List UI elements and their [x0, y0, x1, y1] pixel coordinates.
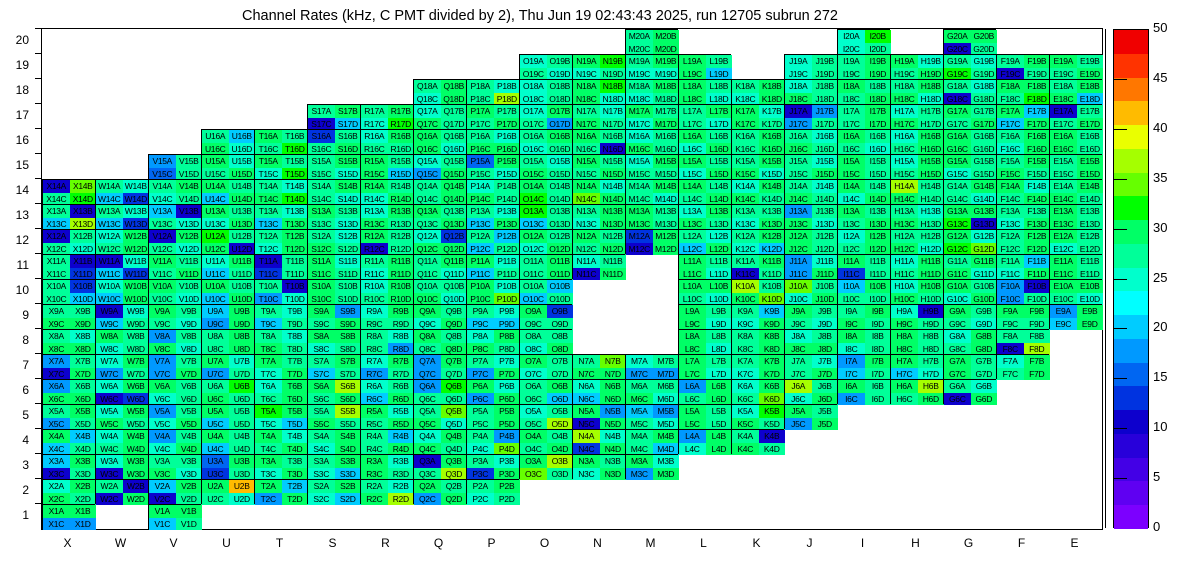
heatmap-subcell: W11A: [96, 255, 123, 268]
heatmap-subcell: Q15A: [414, 155, 441, 168]
heatmap-cell: G8AG8BG8CG8D: [943, 329, 996, 354]
heatmap-cell: K14AK14BK14CK14D: [731, 179, 784, 204]
heatmap-subcell: J10B: [812, 280, 839, 293]
x-axis-tick-label: I: [836, 536, 889, 550]
heatmap-subcell: T12B: [282, 230, 309, 243]
heatmap-subcell: V7B: [176, 355, 203, 368]
heatmap-cell: R8AR8BR8CR8D: [360, 329, 413, 354]
heatmap-subcell: K5B: [759, 405, 786, 418]
heatmap-subcell: N4A: [573, 430, 600, 443]
heatmap-subcell: R2B: [388, 480, 415, 493]
heatmap-cell: I12AI12BI12CI12D: [837, 229, 890, 254]
heatmap-subcell: R3A: [361, 455, 388, 468]
heatmap-subcell: U13B: [229, 205, 256, 218]
heatmap-cell: L4AL4BL4CL4D: [678, 429, 731, 454]
heatmap-cell: Q17AQ17BQ17CQ17D: [413, 104, 466, 129]
heatmap-cell: X12AX12BX12CX12D: [42, 229, 95, 254]
heatmap-cell: X10AX10BX10CX10D: [42, 279, 95, 304]
heatmap-subcell: G16B: [971, 130, 998, 143]
heatmap-subcell: J13A: [785, 205, 812, 218]
heatmap-subcell: P18A: [467, 80, 494, 93]
heatmap-subcell: L8A: [679, 330, 706, 343]
y-axis-tick-mark: [35, 303, 41, 304]
heatmap-subcell: R14A: [361, 180, 388, 193]
heatmap-cell: K7AK7BK7CK7D: [731, 354, 784, 379]
heatmap-subcell: M6B: [653, 380, 680, 393]
heatmap-subcell: M12C: [626, 243, 653, 256]
heatmap-cell: K11AK11BK11CK11D: [731, 254, 784, 279]
heatmap-subcell: G17B: [971, 105, 998, 118]
heatmap-subcell: P12A: [467, 230, 494, 243]
heatmap-cell: Q5AQ5BQ5CQ5D: [413, 404, 466, 429]
heatmap-cell: L15AL15BL15CL15D: [678, 154, 731, 179]
colorbar-tick-mark: [1113, 79, 1127, 80]
heatmap-subcell: O7B: [547, 355, 574, 368]
heatmap-cell: T6AT6BT6CT6D: [254, 379, 307, 404]
heatmap-subcell: V12A: [149, 230, 176, 243]
colorbar-band: [1114, 434, 1148, 458]
heatmap-subcell: N11C: [573, 268, 600, 281]
heatmap-subcell: R14B: [388, 180, 415, 193]
heatmap-subcell: L6A: [679, 380, 706, 393]
colorbar-tick-mark: [1113, 378, 1127, 379]
heatmap-subcell: W3A: [96, 455, 123, 468]
heatmap-cell: S17AS17BS17CS17D: [307, 104, 360, 129]
heatmap-subcell: L11A: [679, 255, 706, 268]
heatmap-subcell: K6A: [732, 380, 759, 393]
heatmap-subcell: O3A: [520, 455, 547, 468]
heatmap-cell: U5AU5BU5CU5D: [201, 404, 254, 429]
heatmap-cell: G17AG17BG17CG17D: [943, 104, 996, 129]
heatmap-subcell: H19B: [918, 55, 945, 68]
heatmap-subcell: T6B: [282, 380, 309, 393]
heatmap-cell: U9AU9BU9CU9D: [201, 304, 254, 329]
heatmap-subcell: J9A: [785, 305, 812, 318]
heatmap-cell: P2AP2BP2CP2D: [466, 479, 519, 504]
heatmap-subcell: M17B: [653, 105, 680, 118]
heatmap-cell: E13AE13BE13CE13D: [1049, 204, 1102, 229]
heatmap-cell: J18AJ18BJ18CJ18D: [784, 79, 837, 104]
y-axis-tick-label: 9: [7, 308, 29, 322]
heatmap-subcell: P9A: [467, 305, 494, 318]
heatmap-cell: S9AS9BS9CS9D: [307, 304, 360, 329]
heatmap-cell: L8AL8BL8CL8D: [678, 329, 731, 354]
heatmap-subcell: O13B: [547, 205, 574, 218]
heatmap-subcell: S2D: [335, 493, 362, 506]
heatmap-subcell: M16A: [626, 130, 653, 143]
heatmap-subcell: E15A: [1050, 155, 1077, 168]
heatmap-subcell: L19B: [706, 55, 733, 68]
heatmap-subcell: T15A: [255, 155, 282, 168]
heatmap-subcell: I8B: [865, 330, 892, 343]
heatmap-subcell: S4B: [335, 430, 362, 443]
heatmap-cell: V6AV6BV6CV6D: [148, 379, 201, 404]
heatmap-cell: M18AM18BM18CM18D: [625, 79, 678, 104]
heatmap-subcell: H17B: [918, 105, 945, 118]
heatmap-subcell: E11A: [1050, 255, 1077, 268]
heatmap-subcell: W14A: [96, 180, 123, 193]
heatmap-subcell: I15A: [838, 155, 865, 168]
heatmap-subcell: F19B: [1024, 55, 1051, 68]
heatmap-subcell: W10A: [96, 280, 123, 293]
heatmap-subcell: W7A: [96, 355, 123, 368]
heatmap-cell: I8AI8BI8CI8D: [837, 329, 890, 354]
heatmap-cell: T10AT10BT10CT10D: [254, 279, 307, 304]
heatmap-subcell: T7B: [282, 355, 309, 368]
heatmap-subcell: M6A: [626, 380, 653, 393]
heatmap-subcell: F10A: [997, 280, 1024, 293]
y-axis-tick-mark: [35, 353, 41, 354]
heatmap-cell: N6AN6BN6CN6D: [572, 379, 625, 404]
heatmap-subcell: R4A: [361, 430, 388, 443]
heatmap-subcell: L13B: [706, 205, 733, 218]
heatmap-cell: T5AT5BT5CT5D: [254, 404, 307, 429]
y-axis-tick-label: 4: [7, 433, 29, 447]
heatmap-subcell: F17B: [1024, 105, 1051, 118]
y-axis-tick-mark: [35, 378, 41, 379]
x-axis-tick-label: J: [783, 536, 836, 550]
heatmap-cell: Q9AQ9BQ9CQ9D: [413, 304, 466, 329]
colorbar-tick-mark: [1113, 179, 1127, 180]
heatmap-subcell: R5B: [388, 405, 415, 418]
x-axis-tick-label: X: [41, 536, 94, 550]
y-axis-tick-label: 2: [7, 483, 29, 497]
y-axis-tick-mark: [35, 228, 41, 229]
heatmap-subcell: L9A: [679, 305, 706, 318]
heatmap-cell: H18AH18BH18CH18D: [890, 79, 943, 104]
heatmap-subcell: S5B: [335, 405, 362, 418]
heatmap-subcell: U6A: [202, 380, 229, 393]
heatmap-subcell: G14B: [971, 180, 998, 193]
heatmap-subcell: I14B: [865, 180, 892, 193]
heatmap-cell: T11AT11BT11CT11D: [254, 254, 307, 279]
heatmap-subcell: O3B: [547, 455, 574, 468]
heatmap-subcell: Q11A: [414, 255, 441, 268]
heatmap-subcell: L5B: [706, 405, 733, 418]
heatmap-cell: W10AW10BW10CW10D: [95, 279, 148, 304]
heatmap-subcell: W2C: [96, 493, 123, 506]
heatmap-subcell: P5A: [467, 405, 494, 418]
heatmap-cell: W7AW7BW7CW7D: [95, 354, 148, 379]
heatmap-subcell: M3A: [626, 455, 653, 468]
colorbar-band: [1114, 315, 1148, 339]
heatmap-subcell: I18A: [838, 80, 865, 93]
heatmap-subcell: E15B: [1077, 155, 1104, 168]
heatmap-subcell: J12B: [812, 230, 839, 243]
heatmap-subcell: U10A: [202, 280, 229, 293]
heatmap-subcell: S9B: [335, 305, 362, 318]
heatmap-subcell: N19B: [600, 55, 627, 68]
heatmap-cell: L19AL19BL19CL19D: [678, 54, 731, 79]
heatmap-subcell: G12A: [944, 230, 971, 243]
heatmap-subcell: T10B: [282, 280, 309, 293]
heatmap-subcell: X6A: [43, 380, 70, 393]
heatmap-subcell: N12A: [573, 230, 600, 243]
heatmap-subcell: I12B: [865, 230, 892, 243]
heatmap-subcell: T14A: [255, 180, 282, 193]
heatmap-subcell: J7A: [785, 355, 812, 368]
heatmap-cell: G15AG15BG15CG15D: [943, 154, 996, 179]
heatmap-cell: J17AJ17BJ17CJ17D: [784, 104, 837, 129]
heatmap-subcell: I13B: [865, 205, 892, 218]
heatmap-subcell: K17A: [732, 105, 759, 118]
heatmap-subcell: G19A: [944, 55, 971, 68]
heatmap-cell: I18AI18BI18CI18D: [837, 79, 890, 104]
heatmap-subcell: R2D: [388, 493, 415, 506]
heatmap-cell: N7AN7BN7CN7D: [572, 354, 625, 379]
heatmap-subcell: W5A: [96, 405, 123, 418]
colorbar-band: [1114, 363, 1148, 387]
heatmap-cell: X4AX4BX4CX4D: [42, 429, 95, 454]
heatmap-subcell: O11B: [547, 255, 574, 268]
heatmap-subcell: X2B: [70, 480, 97, 493]
heatmap-subcell: N14B: [600, 180, 627, 193]
heatmap-subcell: H15B: [918, 155, 945, 168]
heatmap-cell: F11AF11BF11CF11D: [996, 254, 1049, 279]
x-axis-tick-label: L: [677, 536, 730, 550]
colorbar-tick-mark: [1113, 428, 1127, 429]
heatmap-subcell: H19A: [891, 55, 918, 68]
colorbar-band: [1114, 78, 1148, 102]
heatmap-subcell: N3C: [573, 468, 600, 481]
heatmap-cell: W13AW13BW13CW13D: [95, 204, 148, 229]
heatmap-cell: Q2AQ2BQ2CQ2D: [413, 479, 466, 504]
heatmap-cell: V12AV12BV12CV12D: [148, 229, 201, 254]
heatmap-subcell: K17B: [759, 105, 786, 118]
heatmap-subcell: W14B: [123, 180, 150, 193]
heatmap-cell: W9AW9BW9CW9D: [95, 304, 148, 329]
heatmap-subcell: J11B: [812, 255, 839, 268]
heatmap-subcell: H13A: [891, 205, 918, 218]
colorbar-band: [1114, 30, 1148, 54]
heatmap-subcell: P10A: [467, 280, 494, 293]
heatmap-subcell: R12B: [388, 230, 415, 243]
heatmap-cell: H14AH14BH14CH14D: [890, 179, 943, 204]
heatmap-subcell: M15B: [653, 155, 680, 168]
heatmap-cell: P6AP6BP6CP6D: [466, 379, 519, 404]
heatmap-subcell: P3B: [494, 455, 521, 468]
heatmap-subcell: T2B: [282, 480, 309, 493]
heatmap-subcell: E18A: [1050, 80, 1077, 93]
heatmap-cell: J12AJ12BJ12CJ12D: [784, 229, 837, 254]
heatmap-cell: H10AH10BH10CH10D: [890, 279, 943, 304]
heatmap-cell: G7AG7BG7CG7D: [943, 354, 996, 379]
colorbar-tick-mark: [1113, 129, 1127, 130]
heatmap-subcell: L6B: [706, 380, 733, 393]
heatmap-cell: G9AG9BG9CG9D: [943, 304, 996, 329]
heatmap-subcell: E14B: [1077, 180, 1104, 193]
heatmap-subcell: N19A: [573, 55, 600, 68]
heatmap-subcell: O13A: [520, 205, 547, 218]
heatmap-cell: L9AL9BL9CL9D: [678, 304, 731, 329]
heatmap-subcell: R15A: [361, 155, 388, 168]
heatmap-subcell: X3A: [43, 455, 70, 468]
heatmap-subcell: U16B: [229, 130, 256, 143]
heatmap-subcell: T8B: [282, 330, 309, 343]
x-axis-tick-label: W: [94, 536, 147, 550]
heatmap-subcell: V13A: [149, 205, 176, 218]
heatmap-subcell: X14B: [70, 180, 97, 193]
heatmap-subcell: F14B: [1024, 180, 1051, 193]
heatmap-subcell: M4A: [626, 430, 653, 443]
heatmap-cell: W4AW4BW4CW4D: [95, 429, 148, 454]
x-axis-tick-label: F: [995, 536, 1048, 550]
x-axis-tick-label: M: [624, 536, 677, 550]
heatmap-subcell: J12A: [785, 230, 812, 243]
heatmap-subcell: S16A: [308, 130, 335, 143]
heatmap-subcell: F15B: [1024, 155, 1051, 168]
heatmap-subcell: K12B: [759, 230, 786, 243]
heatmap-subcell: P14A: [467, 180, 494, 193]
heatmap-subcell: T3A: [255, 455, 282, 468]
heatmap-cell: Q6AQ6BQ6CQ6D: [413, 379, 466, 404]
heatmap-subcell: J18A: [785, 80, 812, 93]
heatmap-subcell: R9B: [388, 305, 415, 318]
heatmap-cell: N17AN17BN17CN17D: [572, 104, 625, 129]
heatmap-cell: E11AE11BE11CE11D: [1049, 254, 1102, 279]
heatmap-subcell: P8A: [467, 330, 494, 343]
colorbar-tick-label: 35: [1153, 170, 1167, 185]
heatmap-cell: J11AJ11BJ11CJ11D: [784, 254, 837, 279]
colorbar-band: [1114, 54, 1148, 78]
heatmap-subcell: P13B: [494, 205, 521, 218]
heatmap-cell: M4AM4BM4CM4D: [625, 429, 678, 454]
heatmap-cell: F17AF17BF17CF17D: [996, 104, 1049, 129]
heatmap-subcell: S11B: [335, 255, 362, 268]
heatmap-subcell: N17A: [573, 105, 600, 118]
colorbar-axis-line: [1105, 29, 1106, 528]
heatmap-subcell: W2D: [123, 493, 150, 506]
heatmap-cell: Q18AQ18BQ18CQ18D: [413, 79, 466, 104]
heatmap-subcell: U2D: [229, 493, 256, 506]
heatmap-subcell: F19A: [997, 55, 1024, 68]
heatmap-cell: L17AL17BL17CL17D: [678, 104, 731, 129]
heatmap-subcell: I17B: [865, 105, 892, 118]
heatmap-subcell: R13A: [361, 205, 388, 218]
colorbar-tick-label: 30: [1153, 220, 1167, 235]
heatmap-subcell: O5B: [547, 405, 574, 418]
heatmap-subcell: Q7A: [414, 355, 441, 368]
heatmap-subcell: U16A: [202, 130, 229, 143]
heatmap-subcell: L4A: [679, 430, 706, 443]
heatmap-cell: F8AF8BF8CF8D: [996, 329, 1049, 354]
heatmap-subcell: R8A: [361, 330, 388, 343]
heatmap-subcell: F11A: [997, 255, 1024, 268]
heatmap-subcell: J5A: [785, 405, 812, 418]
heatmap-subcell: V1B: [176, 505, 203, 518]
heatmap-subcell: V15A: [149, 155, 176, 168]
heatmap-subcell: Q14B: [441, 180, 468, 193]
heatmap-subcell: I14A: [838, 180, 865, 193]
heatmap-subcell: T12A: [255, 230, 282, 243]
heatmap-subcell: T16A: [255, 130, 282, 143]
y-axis-tick-mark: [35, 53, 41, 54]
heatmap-subcell: N3D: [600, 468, 627, 481]
heatmap-subcell: M4B: [653, 430, 680, 443]
heatmap-cell: Q11AQ11BQ11CQ11D: [413, 254, 466, 279]
heatmap-subcell: I7A: [838, 355, 865, 368]
x-axis-tick-label: S: [306, 536, 359, 550]
heatmap-subcell: L4B: [706, 430, 733, 443]
heatmap-subcell: Q5B: [441, 405, 468, 418]
heatmap-subcell: X10A: [43, 280, 70, 293]
heatmap-subcell: S7A: [308, 355, 335, 368]
heatmap-cell: L10AL10BL10CL10D: [678, 279, 731, 304]
heatmap-cell: V10AV10BV10CV10D: [148, 279, 201, 304]
heatmap-subcell: K8A: [732, 330, 759, 343]
heatmap-subcell: P5B: [494, 405, 521, 418]
heatmap-subcell: V3B: [176, 455, 203, 468]
heatmap-subcell: W3B: [123, 455, 150, 468]
heatmap-subcell: M7A: [626, 355, 653, 368]
heatmap-subcell: F11B: [1024, 255, 1051, 268]
heatmap-cell: K18AK18BK18CK18D: [731, 79, 784, 104]
heatmap-subcell: S13B: [335, 205, 362, 218]
y-axis-tick-label: 17: [7, 108, 29, 122]
heatmap-subcell: H8A: [891, 330, 918, 343]
heatmap-subcell: R2C: [361, 493, 388, 506]
heatmap-subcell: W12B: [123, 230, 150, 243]
heatmap-subcell: O19A: [520, 55, 547, 68]
heatmap-subcell: P7B: [494, 355, 521, 368]
heatmap-cell: R14AR14BR14CR14D: [360, 179, 413, 204]
y-axis-tick-mark: [35, 128, 41, 129]
heatmap-subcell: H14A: [891, 180, 918, 193]
heatmap-cell: N18AN18BN18CN18D: [572, 79, 625, 104]
heatmap-subcell: V1D: [176, 518, 203, 531]
heatmap-subcell: J18B: [812, 80, 839, 93]
heatmap-cell: H9AH9BH9CH9D: [890, 304, 943, 329]
heatmap-cell: U13AU13BU13CU13D: [201, 204, 254, 229]
heatmap-subcell: V8B: [176, 330, 203, 343]
heatmap-cell: T4AT4BT4CT4D: [254, 429, 307, 454]
heatmap-subcell: I11A: [838, 255, 865, 268]
heatmap-subcell: Q9B: [441, 305, 468, 318]
heatmap-subcell: J6B: [812, 380, 839, 393]
heatmap-cell: L5AL5BL5CL5D: [678, 404, 731, 429]
heatmap-subcell: R10B: [388, 280, 415, 293]
heatmap-subcell: K4C: [732, 443, 759, 456]
heatmap-subcell: E12B: [1077, 230, 1104, 243]
heatmap-cell: U7AU7BU7CU7D: [201, 354, 254, 379]
heatmap-subcell: K4B: [759, 430, 786, 443]
heatmap-cell: N15AN15BN15CN15D: [572, 154, 625, 179]
heatmap-cell: U6AU6BU6CU6D: [201, 379, 254, 404]
heatmap-cell: R17AR17BR17CR17D: [360, 104, 413, 129]
heatmap-subcell: O15A: [520, 155, 547, 168]
heatmap-cell: S15AS15BS15CS15D: [307, 154, 360, 179]
heatmap-subcell: U7A: [202, 355, 229, 368]
heatmap-subcell: U2A: [202, 480, 229, 493]
heatmap-subcell: X1C: [43, 518, 70, 531]
heatmap-subcell: P6B: [494, 380, 521, 393]
heatmap-subcell: V7A: [149, 355, 176, 368]
heatmap-cell: H13AH13BH13CH13D: [890, 204, 943, 229]
y-axis-tick-mark: [35, 328, 41, 329]
heatmap-cell: V14AV14BV14CV14D: [148, 179, 201, 204]
heatmap-subcell: V14A: [149, 180, 176, 193]
heatmap-cell: N12AN12BN12CN12D: [572, 229, 625, 254]
heatmap-subcell: P8B: [494, 330, 521, 343]
heatmap-subcell: Q16B: [441, 130, 468, 143]
heatmap-subcell: X7A: [43, 355, 70, 368]
heatmap-cell: I10AI10BI10CI10D: [837, 279, 890, 304]
heatmap-cell: P16AP16BP16CP16D: [466, 129, 519, 154]
colorbar-band: [1114, 149, 1148, 173]
heatmap-subcell: N17B: [600, 105, 627, 118]
heatmap-subcell: N4B: [600, 430, 627, 443]
heatmap-cell: J7AJ7BJ7CJ7D: [784, 354, 837, 379]
